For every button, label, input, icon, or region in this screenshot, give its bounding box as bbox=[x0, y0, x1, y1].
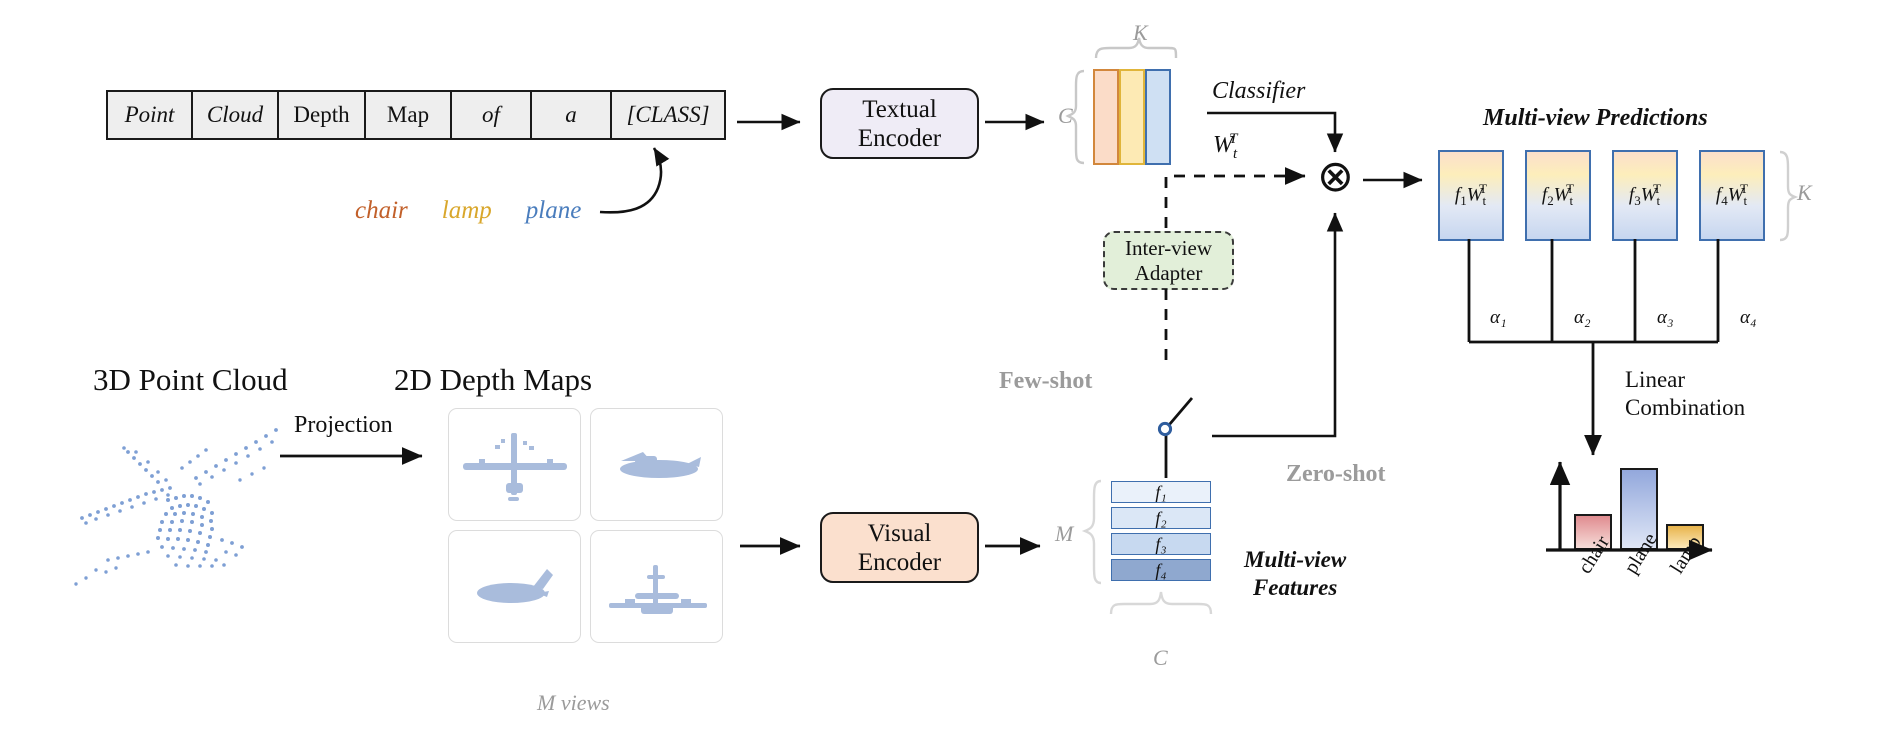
classifier-column-chair bbox=[1093, 69, 1119, 165]
prediction-box-2: f2WtT bbox=[1525, 150, 1591, 241]
alpha-label-2: α₂ bbox=[1574, 307, 1591, 329]
prompt-token-class: [CLASS] bbox=[612, 92, 724, 138]
feature-brace-bottom-label: C bbox=[1153, 645, 1168, 671]
class-word-chair: chair bbox=[355, 197, 408, 225]
classifier-label: Classifier bbox=[1212, 78, 1305, 105]
depth-map-tile-3 bbox=[448, 530, 581, 643]
linear-combination-line2: Combination bbox=[1625, 394, 1745, 422]
depth-maps-caption: M views bbox=[537, 690, 610, 716]
multi-view-features-line2: Features bbox=[1244, 574, 1346, 602]
depth-map-grid bbox=[448, 408, 723, 643]
alpha-label-4: α₄ bbox=[1740, 307, 1757, 329]
brace-predictions-k bbox=[1780, 152, 1795, 240]
depth-map-tile-1 bbox=[448, 408, 581, 521]
switch-pivot-icon bbox=[1159, 423, 1170, 434]
brace-features-c bbox=[1111, 592, 1211, 614]
alpha-label-1: α₁ bbox=[1490, 307, 1507, 329]
prompt-token-of: of bbox=[452, 92, 532, 138]
feature-row-4: f₄ bbox=[1111, 559, 1211, 581]
class-word-list: chair lamp plane bbox=[355, 197, 581, 225]
textual-encoder-line2: Encoder bbox=[858, 124, 941, 153]
switch-lever bbox=[1169, 398, 1192, 425]
alpha-label-3: α₃ bbox=[1657, 307, 1674, 329]
classifier-column-lamp bbox=[1119, 69, 1145, 165]
adapter-line1: Inter-view bbox=[1125, 236, 1212, 260]
dashed-arrow-adapter-to-operator bbox=[1166, 176, 1305, 228]
predictions-brace-label: K bbox=[1797, 180, 1812, 206]
projection-label: Projection bbox=[294, 412, 393, 439]
linear-combination-line1: Linear bbox=[1625, 366, 1745, 394]
depth-maps-title: 2D Depth Maps bbox=[394, 362, 592, 398]
prompt-token-a: a bbox=[532, 92, 612, 138]
few-shot-label: Few-shot bbox=[999, 368, 1092, 395]
prediction-box-3: f3WtT bbox=[1612, 150, 1678, 241]
multi-view-features-label: Multi-view Features bbox=[1244, 546, 1346, 602]
classifier-weight-label: WtT bbox=[1213, 131, 1238, 163]
class-word-lamp: lamp bbox=[442, 197, 492, 225]
multi-view-features-line1: Multi-view bbox=[1244, 546, 1346, 574]
prompt-token-cloud: Cloud bbox=[193, 92, 279, 138]
prompt-token-point: Point bbox=[108, 92, 193, 138]
textual-encoder-line1: Textual bbox=[858, 95, 941, 124]
feature-row-1: f₁ bbox=[1111, 481, 1211, 503]
multi-view-predictions-title: Multi-view Predictions bbox=[1483, 105, 1708, 132]
classifier-matrix bbox=[1093, 69, 1171, 165]
adapter-line2: Adapter bbox=[1125, 261, 1212, 285]
prompt-token-row: Point Cloud Depth Map of a [CLASS] bbox=[106, 90, 726, 140]
prediction-box-1: f1WtT bbox=[1438, 150, 1504, 241]
classifier-brace-left-label: C bbox=[1058, 103, 1073, 129]
class-word-plane: plane bbox=[526, 197, 582, 225]
prediction-box-4: f4WtT bbox=[1699, 150, 1765, 241]
depth-map-tile-4 bbox=[590, 530, 723, 643]
textual-encoder-box: Textual Encoder bbox=[820, 88, 979, 159]
depth-map-tile-2 bbox=[590, 408, 723, 521]
classifier-column-plane bbox=[1145, 69, 1171, 165]
feature-row-3: f₃ bbox=[1111, 533, 1211, 555]
zero-shot-label: Zero-shot bbox=[1286, 461, 1386, 488]
point-cloud-title: 3D Point Cloud bbox=[93, 362, 288, 398]
feature-brace-left-label: M bbox=[1055, 521, 1073, 547]
brace-features-m bbox=[1085, 481, 1101, 583]
arrow-class-words-to-class-token bbox=[600, 148, 661, 212]
visual-encoder-box: Visual Encoder bbox=[820, 512, 979, 583]
inter-view-adapter-box: Inter-view Adapter bbox=[1103, 231, 1234, 290]
linear-combination-label: Linear Combination bbox=[1625, 366, 1745, 421]
tensor-product-icon: ⊗ bbox=[1317, 155, 1354, 199]
prompt-token-depth: Depth bbox=[279, 92, 366, 138]
prompt-token-map: Map bbox=[366, 92, 452, 138]
visual-encoder-line2: Encoder bbox=[858, 548, 941, 577]
prediction-box-row: f1WtT f2WtT f3WtT f4WtT bbox=[1438, 150, 1765, 241]
visual-encoder-line1: Visual bbox=[858, 519, 941, 548]
point-cloud-render bbox=[74, 428, 278, 586]
multi-view-feature-stack: f₁ f₂ f₃ f₄ bbox=[1111, 481, 1211, 585]
classifier-brace-top-label: K bbox=[1133, 20, 1148, 46]
feature-row-2: f₂ bbox=[1111, 507, 1211, 529]
